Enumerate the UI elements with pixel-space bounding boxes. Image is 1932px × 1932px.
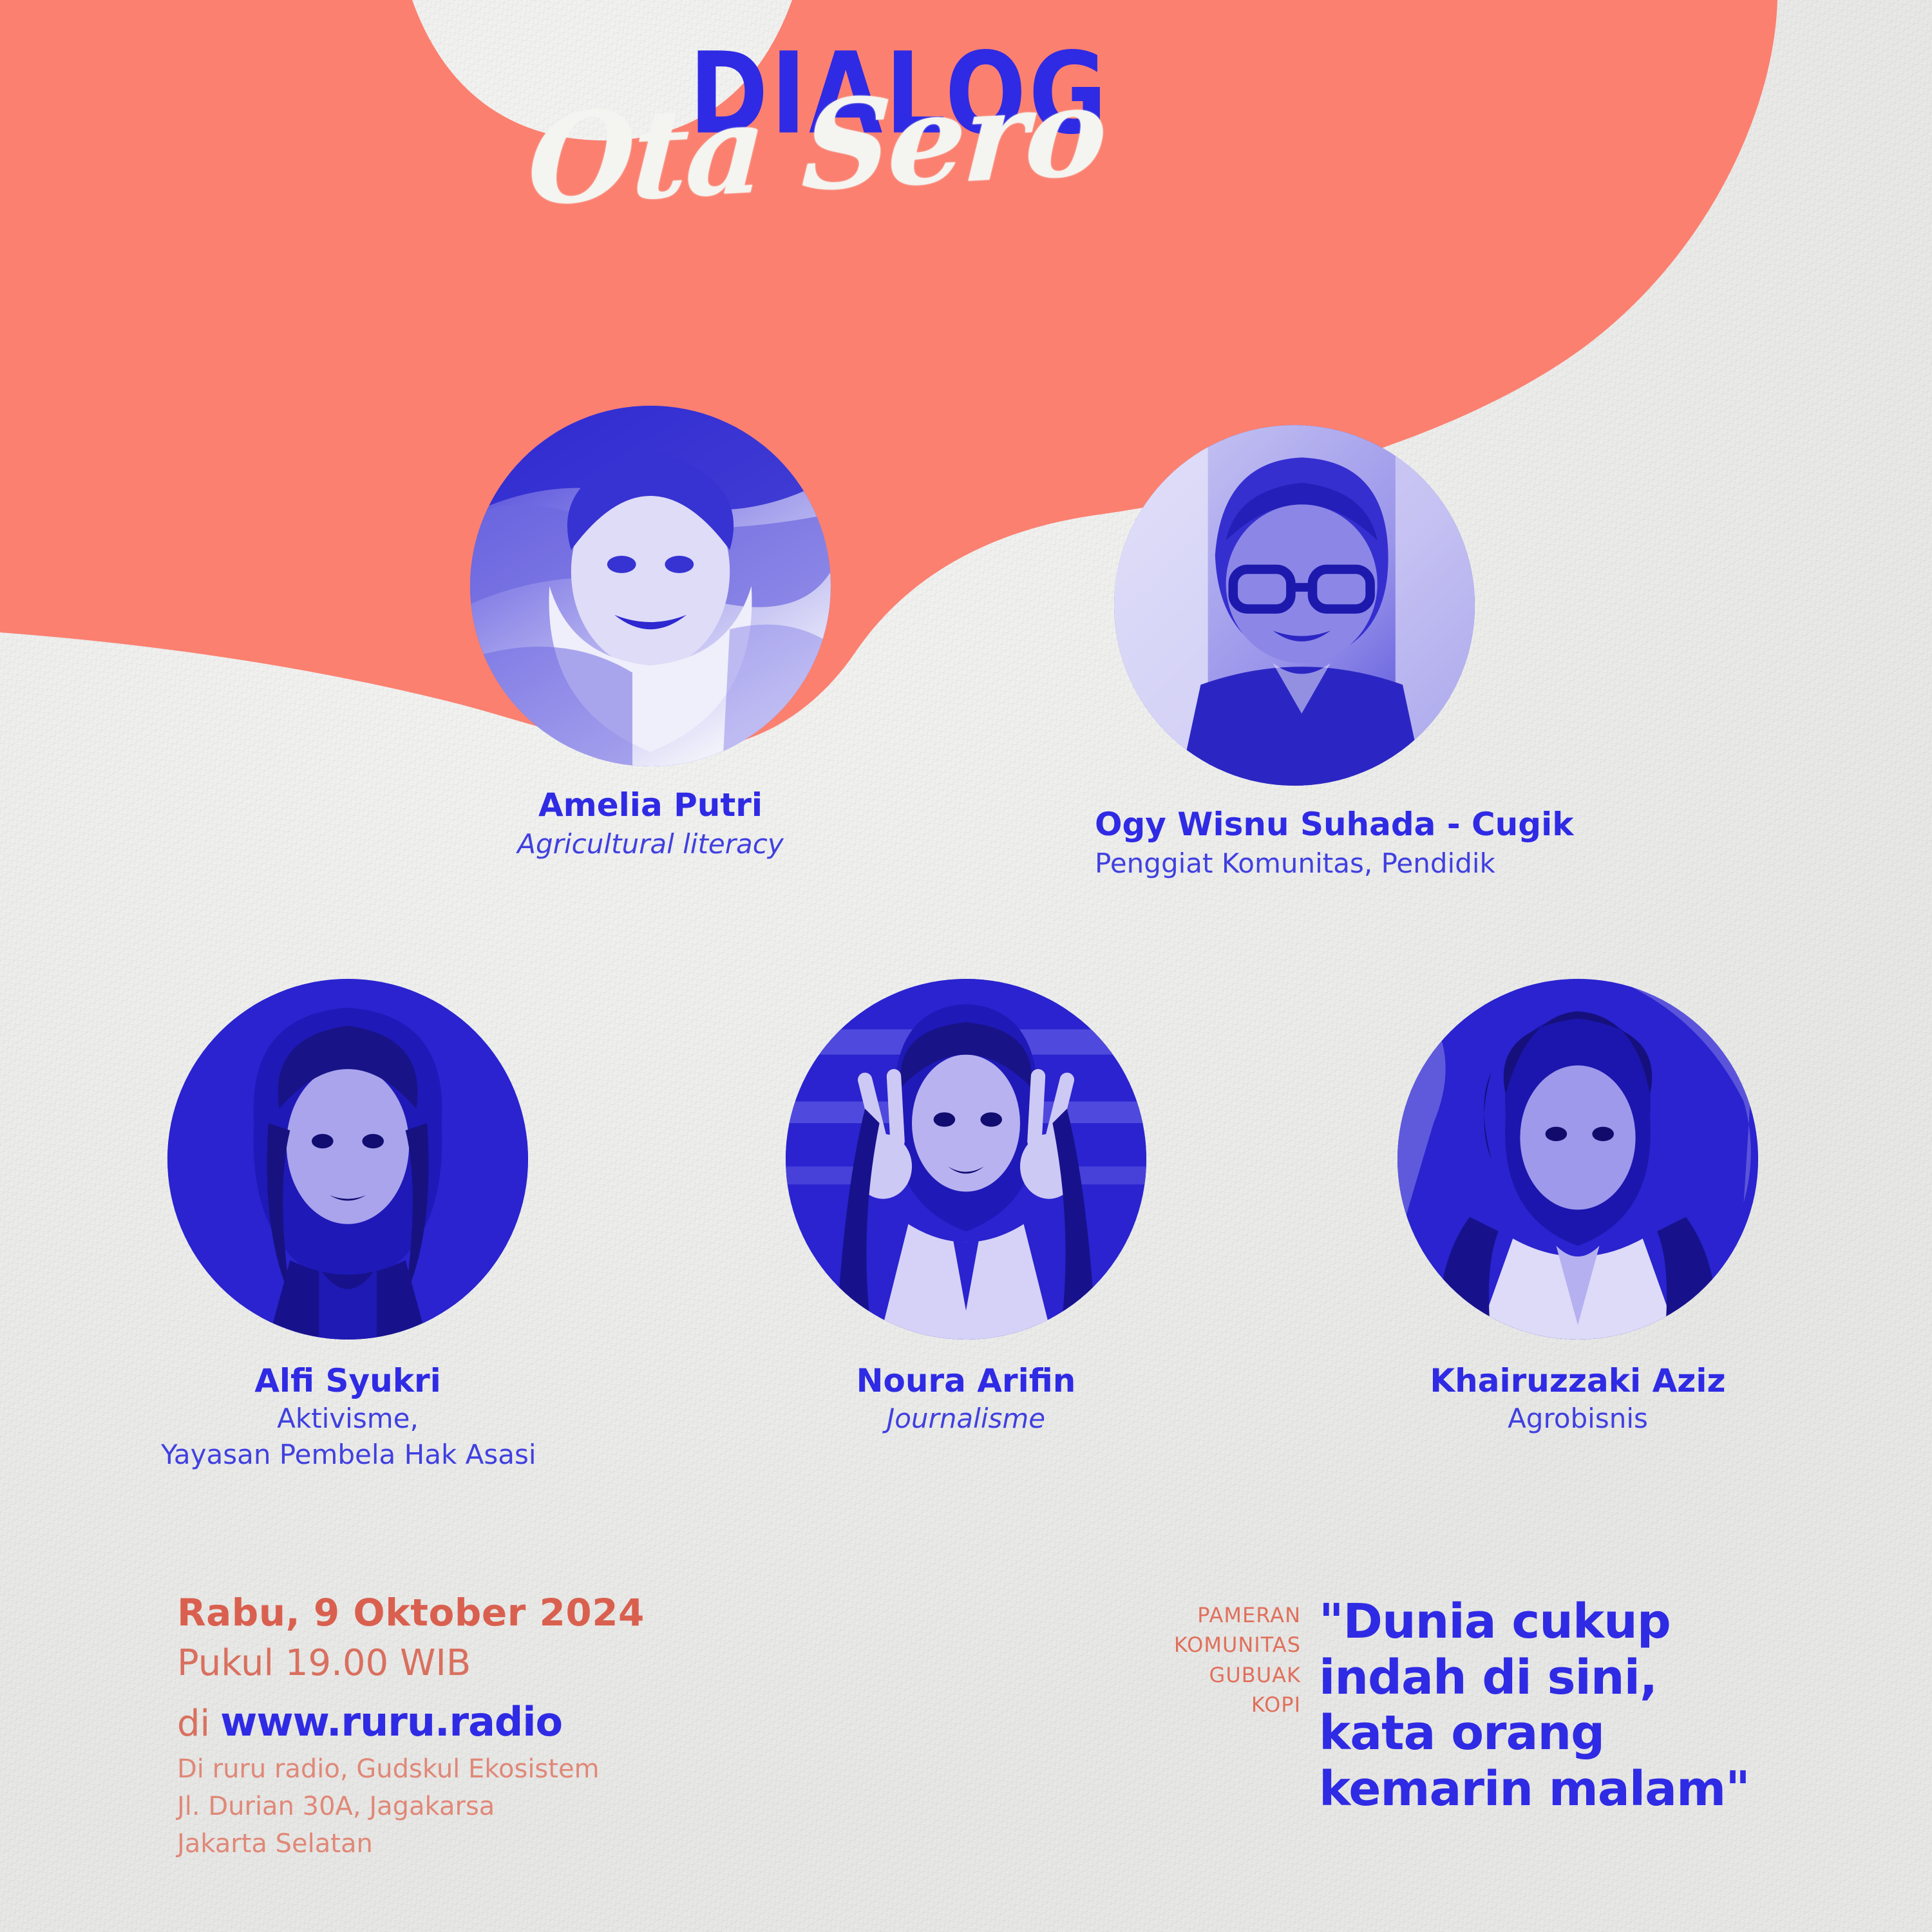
avatar-ogy-wisnu-suhada bbox=[1114, 425, 1475, 786]
title-script-text: Ota Sero bbox=[525, 59, 1108, 233]
speaker-role: Agrobisnis bbox=[1391, 1403, 1765, 1435]
speaker-role: Agricultural literacy bbox=[464, 828, 837, 860]
speaker-name: Ogy Wisnu Suhada - Cugik bbox=[1095, 806, 1494, 842]
speaker-card-ogy-wisnu-suhada: Ogy Wisnu Suhada - Cugik Penggiat Komuni… bbox=[1095, 425, 1494, 880]
speaker-card-khairuzzaki-aziz: Khairuzzaki Aziz Agrobisnis bbox=[1391, 979, 1765, 1435]
speaker-name: Amelia Putri bbox=[464, 787, 837, 823]
speaker-role: Journalisme bbox=[779, 1403, 1153, 1435]
speaker-card-alfi-syukri: Alfi Syukri Aktivisme, Yayasan Pembela H… bbox=[161, 979, 535, 1472]
quote-text: "Dunia cukup indah di sini, kata orang k… bbox=[1319, 1594, 1750, 1817]
portrait-amelia-putri bbox=[470, 406, 831, 766]
speaker-role-line1: Aktivisme, bbox=[161, 1403, 535, 1435]
quote-line-1: "Dunia cukup bbox=[1319, 1594, 1750, 1650]
event-details: Rabu, 9 Oktober 2024 Pukul 19.00 WIB di … bbox=[177, 1591, 645, 1745]
speaker-card-amelia-putri: Amelia Putri Agricultural literacy bbox=[464, 406, 837, 860]
avatar-noura-arifin bbox=[786, 979, 1146, 1340]
exhibition-line-2: KOMUNITAS bbox=[1153, 1630, 1301, 1660]
portrait-alfi-syukri bbox=[167, 979, 528, 1340]
speaker-role-line2: Yayasan Pembela Hak Asasi bbox=[161, 1439, 535, 1471]
event-url-link[interactable]: www.ruru.radio bbox=[220, 1698, 562, 1745]
exhibition-line-4: KOPI bbox=[1153, 1690, 1301, 1719]
exhibition-line-1: PAMERAN bbox=[1153, 1600, 1301, 1630]
venue-line-1: Di ruru radio, Gudskul Ekosistem bbox=[177, 1750, 600, 1788]
event-time: Pukul 19.00 WIB bbox=[177, 1642, 645, 1684]
venue-line-2: Jl. Durian 30A, Jagakarsa bbox=[177, 1788, 600, 1825]
venue-address: Di ruru radio, Gudskul Ekosistem Jl. Dur… bbox=[177, 1750, 600, 1862]
venue-line-3: Jakarta Selatan bbox=[177, 1825, 600, 1862]
event-date: Rabu, 9 Oktober 2024 bbox=[177, 1591, 645, 1634]
speaker-name: Noura Arifin bbox=[779, 1363, 1153, 1399]
avatar-khairuzzaki-aziz bbox=[1397, 979, 1758, 1340]
poster-title: DIALOG Ota Sero bbox=[489, 13, 1455, 270]
event-url-prefix: di bbox=[177, 1703, 210, 1745]
speaker-name: Khairuzzaki Aziz bbox=[1391, 1363, 1765, 1399]
exhibition-line-3: GUBUAK bbox=[1153, 1660, 1301, 1690]
exhibition-label: PAMERAN KOMUNITAS GUBUAK KOPI bbox=[1153, 1594, 1301, 1817]
speaker-card-noura-arifin: Noura Arifin Journalisme bbox=[779, 979, 1153, 1435]
portrait-khairuzzaki-aziz bbox=[1397, 979, 1758, 1340]
event-url-line: di www.ruru.radio bbox=[177, 1698, 645, 1745]
quote-section: PAMERAN KOMUNITAS GUBUAK KOPI "Dunia cuk… bbox=[1153, 1594, 1750, 1817]
quote-line-3: kata orang bbox=[1319, 1705, 1750, 1761]
avatar-alfi-syukri bbox=[167, 979, 528, 1340]
speaker-role: Penggiat Komunitas, Pendidik bbox=[1095, 848, 1494, 880]
quote-line-2: indah di sini, bbox=[1319, 1650, 1750, 1706]
portrait-ogy-wisnu-suhada bbox=[1114, 425, 1475, 786]
portrait-noura-arifin bbox=[786, 979, 1146, 1340]
speaker-name: Alfi Syukri bbox=[161, 1363, 535, 1399]
avatar-amelia-putri bbox=[470, 406, 831, 766]
quote-line-4: kemarin malam" bbox=[1319, 1761, 1750, 1817]
